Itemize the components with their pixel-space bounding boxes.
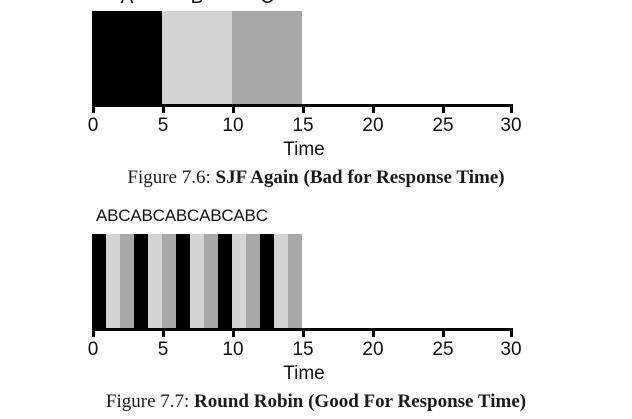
x-axis-tick-30	[510, 104, 513, 113]
x-axis-label-15: 15	[292, 116, 313, 135]
bar-segment	[176, 234, 190, 328]
bar-segment	[218, 234, 232, 328]
x-axis-tick-15	[302, 104, 305, 113]
bar-segment-c	[232, 11, 302, 104]
bar-segment	[274, 234, 288, 328]
x-axis-tick-25	[442, 328, 445, 337]
bar-segment-a	[92, 11, 162, 104]
bar-segment	[134, 234, 148, 328]
bar-segment	[204, 234, 218, 328]
x-axis-label-0: 0	[88, 116, 99, 135]
x-axis-label-25: 25	[432, 116, 453, 135]
bar-segment	[246, 234, 260, 328]
x-axis-tick-30	[510, 328, 513, 337]
figure-7-7-caption-title: Round Robin (Good For Response Time)	[194, 391, 526, 412]
x-axis-tick-0	[92, 104, 95, 113]
bar-segment	[288, 234, 302, 328]
x-axis-title: Time	[283, 364, 325, 383]
bar-segment	[232, 234, 246, 328]
series-label-a: A	[121, 0, 134, 7]
series-label-c: C	[260, 0, 274, 7]
figure-7-6-caption: Figure 7.6: SJF Again (Bad for Response …	[0, 168, 632, 187]
x-axis-tick-5	[162, 104, 165, 113]
x-axis-tick-5	[162, 328, 165, 337]
x-axis-label-30: 30	[500, 116, 521, 135]
x-axis-tick-20	[372, 104, 375, 113]
figure-7-7: ABCABCABCABCABC 0 5	[0, 200, 632, 419]
figure-7-7-caption-number: Figure 7.7:	[106, 391, 189, 412]
sjf-bar-track	[92, 11, 302, 104]
series-label-b: B	[191, 0, 204, 7]
bar-segment	[120, 234, 134, 328]
figure-7-6-caption-number: Figure 7.6:	[127, 167, 210, 188]
x-axis-label-10: 10	[222, 116, 243, 135]
bar-segment	[162, 234, 176, 328]
figure-7-6-caption-title: SJF Again (Bad for Response Time)	[216, 167, 505, 188]
x-axis-tick-15	[302, 328, 305, 337]
bar-segment	[92, 234, 106, 328]
x-axis-label-5: 5	[158, 340, 169, 359]
x-axis-tick-0	[92, 328, 95, 337]
figure-7-6: A B C 0 5 10 15 20 25 30 Time Figure 7.6…	[0, 0, 632, 196]
x-axis-label-20: 20	[362, 340, 383, 359]
x-axis-label-20: 20	[362, 116, 383, 135]
x-axis-label-15: 15	[292, 340, 313, 359]
x-axis-label-30: 30	[500, 340, 521, 359]
bar-segment	[190, 234, 204, 328]
bar-segment	[106, 234, 120, 328]
x-axis-tick-10	[232, 328, 235, 337]
x-axis-label-0: 0	[88, 340, 99, 359]
x-axis-title: Time	[283, 140, 325, 159]
x-axis-label-5: 5	[158, 116, 169, 135]
x-axis-tick-25	[442, 104, 445, 113]
series-label-strip: ABCABCABCABCABC	[96, 207, 268, 224]
bar-segment	[260, 234, 274, 328]
figure-page: { "page": { "background": "#ffffff", "wi…	[0, 0, 632, 419]
x-axis-tick-20	[372, 328, 375, 337]
x-axis-label-10: 10	[222, 340, 243, 359]
figure-7-7-caption: Figure 7.7: Round Robin (Good For Respon…	[0, 392, 632, 411]
round-robin-bar-track	[92, 234, 302, 328]
x-axis-label-25: 25	[432, 340, 453, 359]
bar-segment-b	[162, 11, 232, 104]
x-axis-tick-10	[232, 104, 235, 113]
bar-segment	[148, 234, 162, 328]
